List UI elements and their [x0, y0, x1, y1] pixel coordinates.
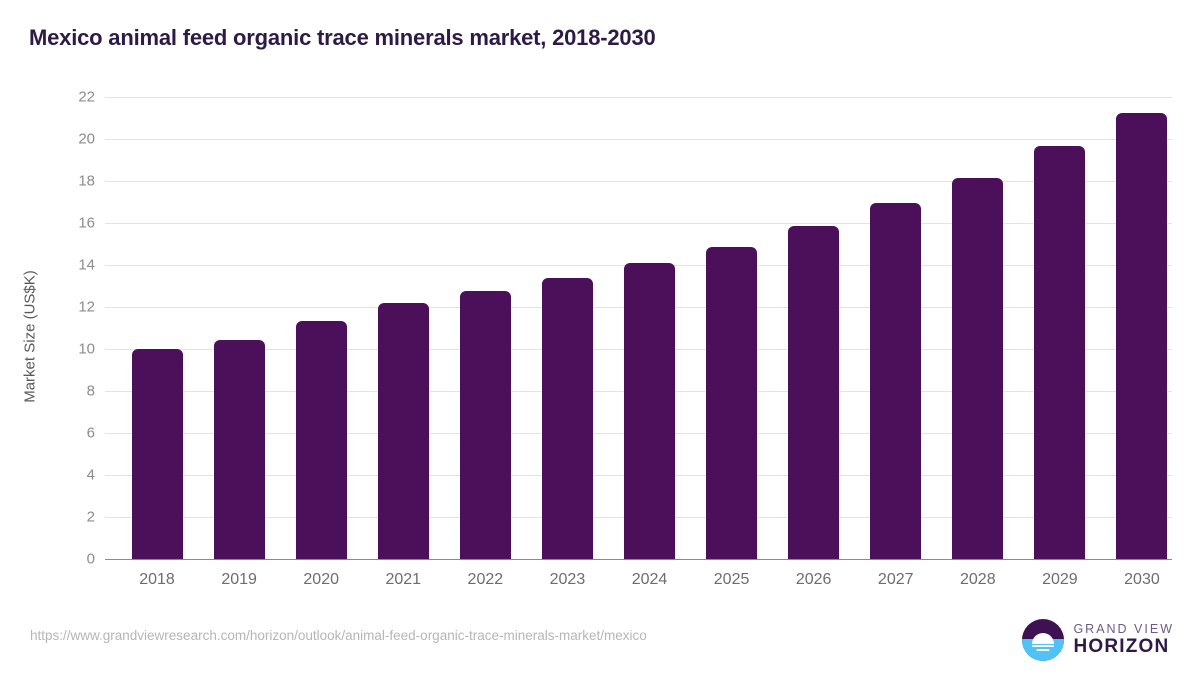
x-axis-tick-label: 2018 [139, 571, 175, 589]
y-axis-tick-label: 8 [55, 383, 95, 400]
x-axis-tick-label: 2029 [1042, 571, 1078, 589]
y-axis-tick-label: 18 [55, 173, 95, 190]
x-axis-tick-label: 2024 [632, 571, 668, 589]
y-axis-tick-label: 10 [55, 341, 95, 358]
gridline [105, 139, 1172, 140]
bar[interactable] [706, 247, 757, 559]
y-axis-tick-label: 14 [55, 257, 95, 274]
logo-wordmark: GRAND VIEW HORIZON [1073, 622, 1174, 659]
x-axis-tick-label: 2030 [1124, 571, 1160, 589]
y-axis-tick-label: 12 [55, 299, 95, 316]
x-axis-tick-label: 2028 [960, 571, 996, 589]
x-axis-tick-label: 2025 [714, 571, 750, 589]
gridline [105, 97, 1172, 98]
logo-text-horizon: HORIZON [1073, 637, 1174, 658]
bar[interactable] [1116, 113, 1167, 559]
bar[interactable] [1034, 146, 1085, 559]
logo-line-long [1032, 645, 1054, 648]
y-axis-tick-label: 4 [55, 467, 95, 484]
bar[interactable] [296, 321, 347, 559]
logo-dome-shape [1032, 633, 1054, 644]
bar[interactable] [132, 349, 183, 559]
bar[interactable] [624, 263, 675, 559]
gridline [105, 223, 1172, 224]
y-axis-tick-label: 20 [55, 131, 95, 148]
y-axis-tick-label: 22 [55, 89, 95, 106]
bar[interactable] [542, 278, 593, 559]
logo-line-short [1037, 649, 1050, 652]
chart-page: Mexico animal feed organic trace mineral… [0, 0, 1200, 675]
x-axis-tick-label: 2023 [550, 571, 586, 589]
y-axis-tick-label: 16 [55, 215, 95, 232]
y-axis-title: Market Size (US$K) [22, 157, 39, 517]
y-axis-tick-label: 6 [55, 425, 95, 442]
x-axis-tick-label: 2027 [878, 571, 914, 589]
gridline [105, 559, 1172, 560]
gridline [105, 181, 1172, 182]
bar[interactable] [952, 178, 1003, 559]
bar[interactable] [214, 340, 265, 559]
x-axis-tick-label: 2019 [221, 571, 257, 589]
bar[interactable] [460, 291, 511, 559]
grand-view-horizon-logo[interactable]: GRAND VIEW HORIZON [1022, 617, 1174, 663]
x-axis-tick-label: 2020 [303, 571, 339, 589]
x-axis-tick-label: 2026 [796, 571, 832, 589]
chart-container: Market Size (US$K) 0246810121416182022 2… [0, 0, 1200, 675]
x-axis-tick-label: 2021 [385, 571, 421, 589]
source-url[interactable]: https://www.grandviewresearch.com/horizo… [30, 628, 647, 643]
y-axis-tick-label: 0 [55, 551, 95, 568]
x-axis-tick-label: 2022 [468, 571, 504, 589]
bar[interactable] [788, 226, 839, 559]
logo-text-grand-view: GRAND VIEW [1073, 622, 1174, 638]
bar[interactable] [870, 203, 921, 559]
bar[interactable] [378, 303, 429, 559]
y-axis-tick-label: 2 [55, 509, 95, 526]
horizon-sun-icon [1022, 619, 1064, 661]
plot-area [105, 97, 1172, 559]
